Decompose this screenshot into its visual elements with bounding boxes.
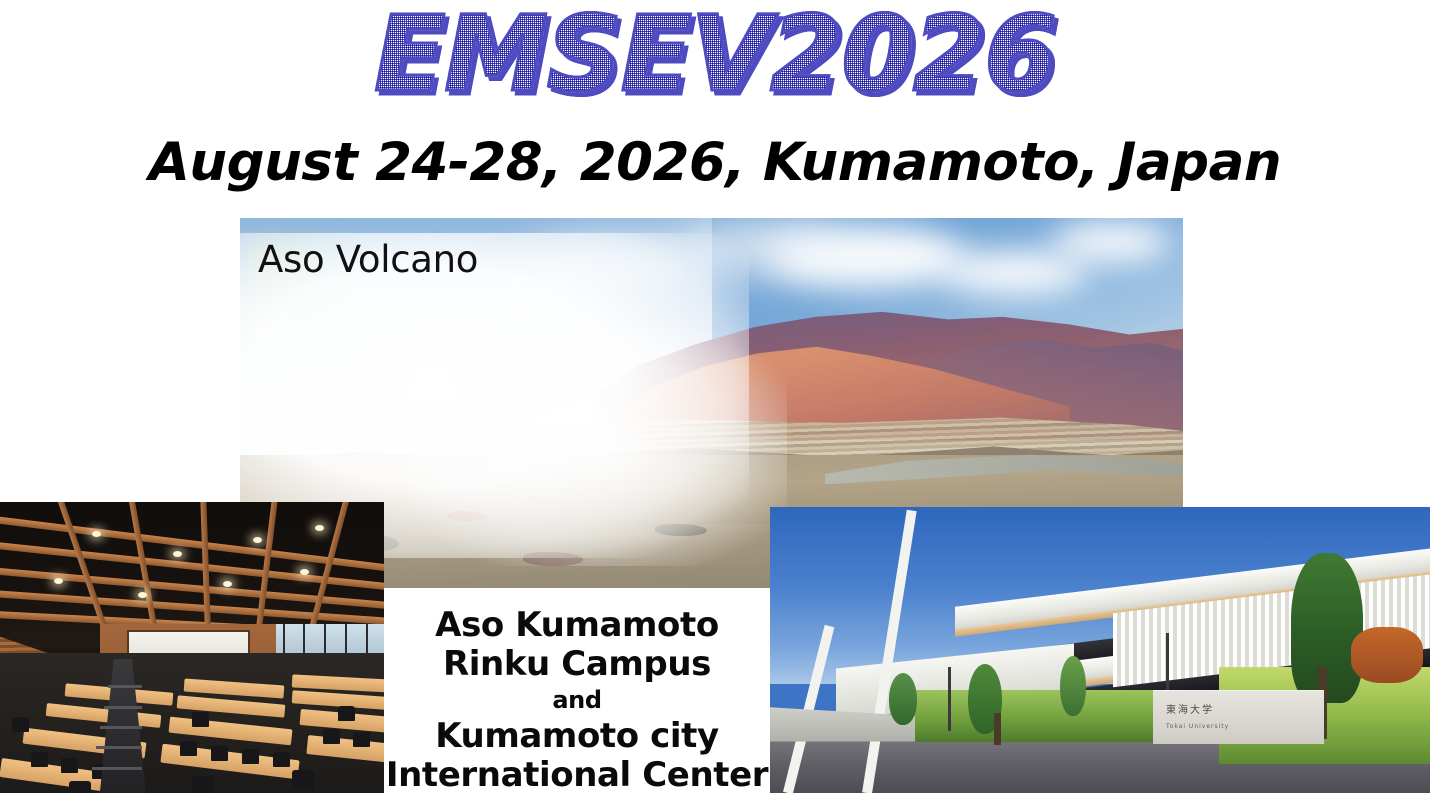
campus-light-pole [948,667,951,731]
campus-tree [1060,656,1086,716]
hall-chair [338,706,355,721]
volcano-label: Aso Volcano [258,238,478,281]
hall-chair [61,758,78,773]
hall-chair [242,749,259,764]
hall-chair [323,729,340,744]
hall-chair [292,770,314,789]
aisle-step [96,746,142,749]
photo-lecture-hall [0,502,384,793]
venue-line-1: Aso Kumamoto [384,588,770,645]
hall-chair [192,776,214,793]
ceiling-light [300,569,309,575]
hall-chair [353,732,370,747]
venue-text-card: Aso Kumamoto Rinku Campus and Kumamoto c… [384,588,770,793]
venue-line-2: Rinku Campus [384,645,770,684]
campus-tree-trunk [994,713,1001,745]
campus-tree-autumn [1351,627,1423,683]
ceiling-light [223,581,232,587]
photo-rinku-campus: 東海大学 Tokai University [770,507,1430,793]
hall-chair [69,781,91,793]
page-title: EMSEV2026 [0,0,1430,114]
venue-line-5: International Center [384,756,770,795]
campus-entrance-sign [1153,690,1325,744]
campus-tree [889,673,917,725]
aisle-step [108,685,143,688]
venue-line-and: and [384,684,770,717]
campus-tree [1291,553,1363,703]
title-block: EMSEV2026 [0,0,1430,122]
hall-chair [31,752,48,767]
venue-line-4: Kumamoto city [384,717,770,756]
hall-chair [180,741,197,756]
ceiling-light [54,578,63,584]
campus-sign-japanese: 東海大学 [1166,701,1214,716]
campus-lawn [915,690,1179,741]
cloud [1051,222,1171,262]
hall-chair [192,712,209,727]
volcano-steam-plume [410,329,787,566]
hall-chair [211,746,228,761]
aisle-step [100,726,142,729]
event-date-location: August 24-28, 2026, Kumamoto, Japan [0,132,1430,193]
aisle-step [104,706,142,709]
hall-chair [273,752,290,767]
cloud [938,251,1088,295]
hall-chair [12,717,29,732]
campus-sign-english: Tokai University [1166,723,1229,730]
aisle-step [92,767,142,770]
